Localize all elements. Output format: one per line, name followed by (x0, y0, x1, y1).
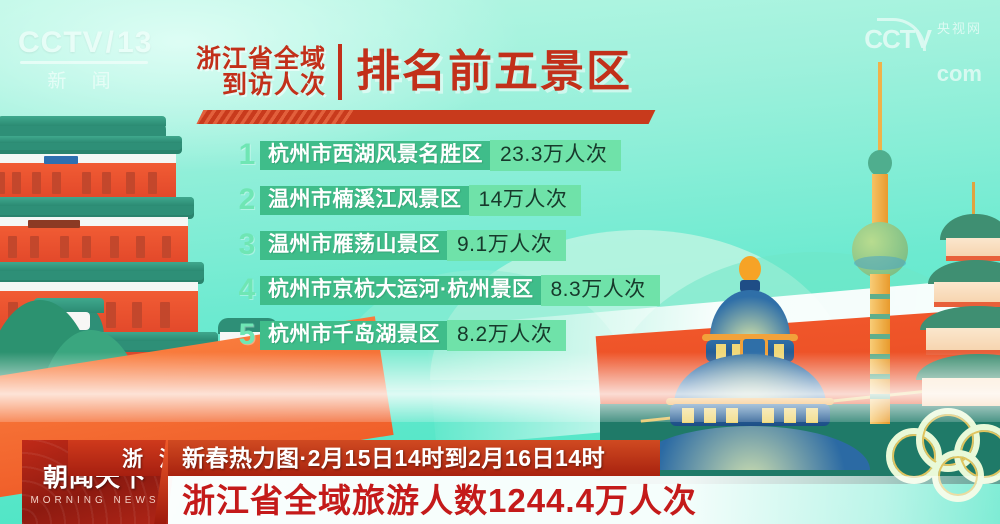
scenic-area-name: 杭州市千岛湖景区 (260, 321, 448, 350)
headline-bar: 浙江省全域旅游人数1244.4万人次 (168, 476, 1000, 524)
visitor-count: 8.3万人次 (541, 275, 660, 306)
title-left-line1: 浙江省全域 (196, 46, 326, 72)
rank-number: 2 (236, 185, 258, 215)
watermark-cn: 央视网 (937, 22, 982, 35)
cctv-com-watermark: CCTV 央视网 com (864, 22, 982, 85)
ranking-list: 1 杭州市西湖风景名胜区 23.3万人次 2 温州市楠溪江风景区 14万人次 3… (236, 140, 876, 365)
title-left-line2: 到访人次 (196, 72, 326, 98)
visitor-count: 8.2万人次 (447, 320, 566, 351)
scenic-area-name: 温州市雁荡山景区 (260, 231, 448, 260)
channel-name-cn: 新 闻 (20, 66, 148, 93)
rank-number: 1 (236, 140, 258, 170)
rank-number: 3 (236, 230, 258, 260)
cctv-wordmark: CCTV (18, 26, 104, 60)
list-item: 5 杭州市千岛湖景区 8.2万人次 (236, 320, 876, 350)
watermark-com: com (864, 63, 982, 85)
title-underline-bar (197, 110, 656, 124)
graphic-title: 浙江省全域 到访人次 排名前五景区 (196, 44, 632, 100)
visitor-count: 23.3万人次 (490, 140, 621, 171)
list-item: 4 杭州市京杭大运河·杭州景区 8.3万人次 (236, 275, 876, 305)
rank-number: 4 (236, 275, 258, 305)
broadcast-graphic: CCTV / 13 新 闻 CCTV 央视网 com 浙江省全域 到访人次 排名… (0, 0, 1000, 524)
list-item: 2 温州市楠溪江风景区 14万人次 (236, 185, 876, 215)
visitor-count: 14万人次 (469, 185, 582, 216)
headline-text: 浙江省全域旅游人数1244.4万人次 (168, 484, 697, 517)
title-underline-stripes (197, 110, 354, 124)
list-item: 3 温州市雁荡山景区 9.1万人次 (236, 230, 876, 260)
program-name-en: MORNING NEWS (22, 496, 168, 506)
channel-number: 13 (117, 26, 152, 60)
scenic-area-name: 杭州市京杭大运河·杭州景区 (260, 276, 542, 305)
visitor-count: 9.1万人次 (447, 230, 566, 261)
logo-underline (20, 61, 148, 64)
scenic-area-name: 杭州市西湖风景名胜区 (260, 141, 491, 170)
cctv13-logo: CCTV / 13 新 闻 (18, 26, 168, 93)
title-right: 排名前五景区 (356, 50, 632, 94)
scenic-area-name: 温州市楠溪江风景区 (260, 186, 470, 215)
title-left-block: 浙江省全域 到访人次 (196, 46, 338, 98)
subtitle-text: 新春热力图·2月15日14时到2月16日14时 (168, 447, 605, 470)
lower-third-banner: 朝闻天下 MORNING NEWS 浙江 新春热力图·2月15日14时到2月16… (0, 440, 1000, 524)
rank-number: 5 (236, 320, 258, 350)
title-divider (338, 44, 342, 100)
list-item: 1 杭州市西湖风景名胜区 23.3万人次 (236, 140, 876, 170)
subtitle-bar: 新春热力图·2月15日14时到2月16日14时 (168, 440, 660, 476)
logo-slash-icon: / (106, 26, 115, 60)
